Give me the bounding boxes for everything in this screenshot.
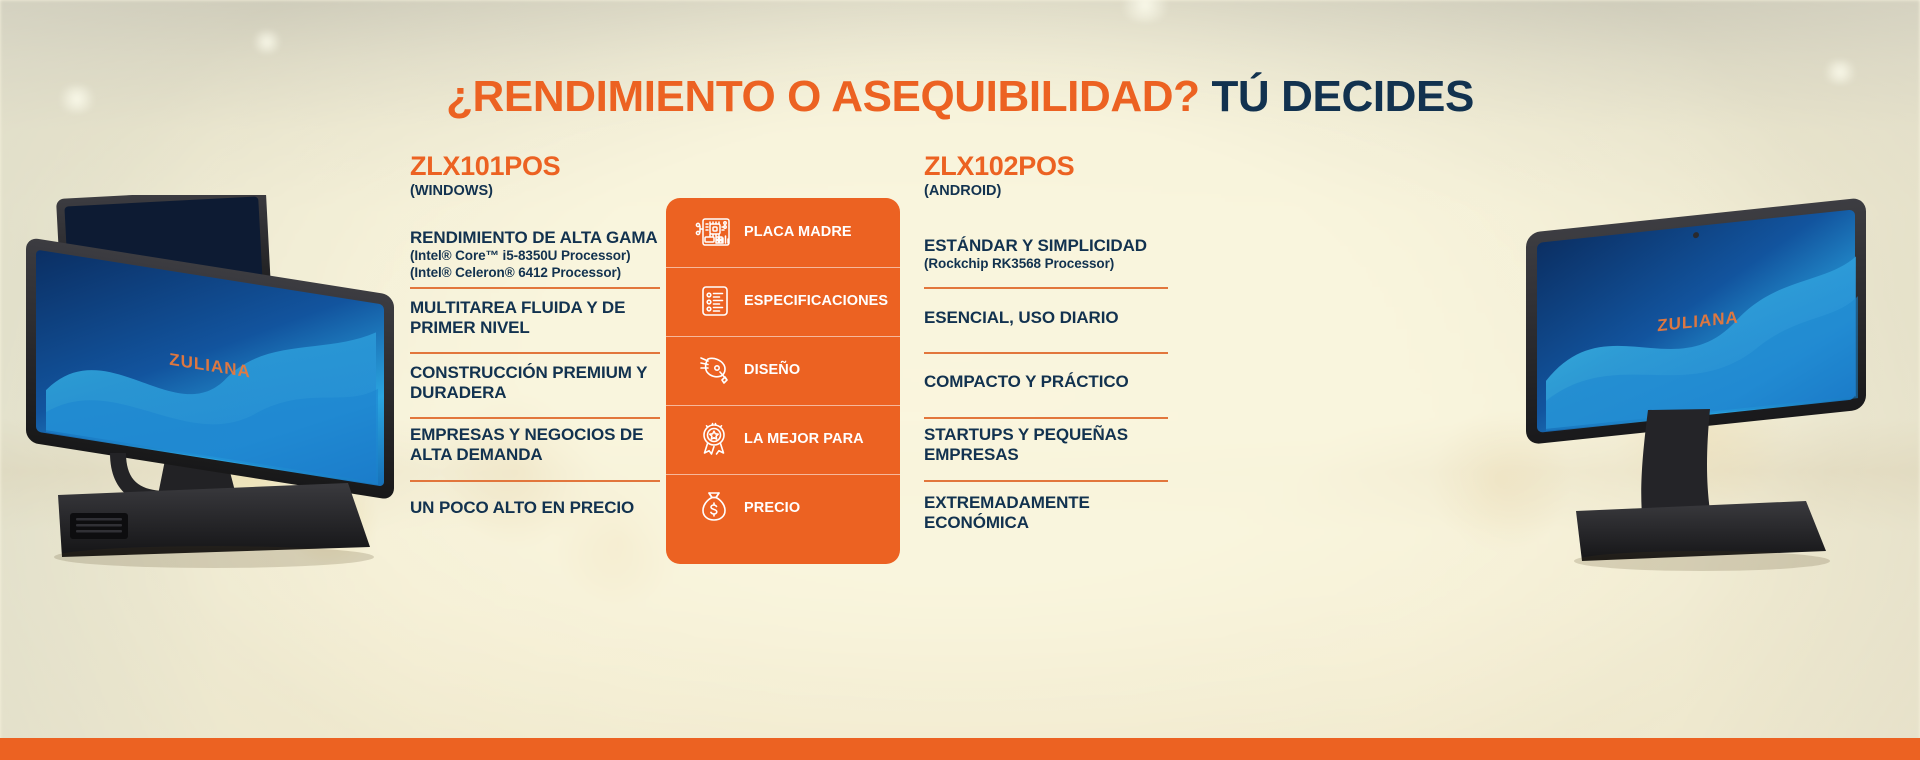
product-name-right: ZLX102POS bbox=[924, 152, 1182, 180]
feature-left-4: UN POCO ALTO EN PRECIO bbox=[410, 498, 660, 518]
product-header-right: ZLX102POS (ANDROID) bbox=[924, 152, 1182, 199]
feature-left-0: RENDIMIENTO DE ALTA GAMA (Intel® Core™ i… bbox=[410, 228, 668, 281]
row-divider bbox=[410, 352, 660, 354]
feature-right-main: STARTUPS Y PEQUEÑAS EMPRESAS bbox=[924, 425, 1176, 465]
award-ribbon-icon bbox=[694, 419, 734, 459]
row-divider bbox=[924, 417, 1168, 419]
page-title: ¿RENDIMIENTO O ASEQUIBILIDAD? TÚ DECIDES bbox=[0, 72, 1920, 122]
feature-right-0: ESTÁNDAR Y SIMPLICIDAD (Rockchip RK3568 … bbox=[924, 236, 1184, 273]
product-header-left: ZLX101POS (WINDOWS) bbox=[410, 152, 660, 199]
category-row-diseno: DISEÑO bbox=[666, 336, 900, 405]
motherboard-icon bbox=[694, 212, 734, 252]
row-divider bbox=[410, 417, 660, 419]
feature-right-1: ESENCIAL, USO DIARIO bbox=[924, 308, 1182, 328]
title-question: ¿RENDIMIENTO O ASEQUIBILIDAD? bbox=[446, 72, 1200, 121]
category-label: LA MEJOR PARA bbox=[744, 431, 864, 447]
specs-list-icon bbox=[694, 281, 734, 321]
feature-right-main: ESENCIAL, USO DIARIO bbox=[924, 308, 1182, 328]
feature-left-sub: (Intel® Core™ i5-8350U Processor) (Intel… bbox=[410, 248, 668, 281]
feature-right-4: EXTREMADAMENTE ECONÓMICA bbox=[924, 493, 1176, 533]
row-divider bbox=[410, 480, 660, 482]
money-bag-icon bbox=[694, 488, 734, 528]
category-row-especificaciones: ESPECIFICACIONES bbox=[666, 267, 900, 336]
feature-right-sub: (Rockchip RK3568 Processor) bbox=[924, 256, 1184, 272]
product-os-left: (WINDOWS) bbox=[410, 183, 660, 199]
feature-left-1: MULTITAREA FLUIDA Y DE PRIMER NIVEL bbox=[410, 298, 660, 338]
feature-left-3: EMPRESAS Y NEGOCIOS DE ALTA DEMANDA bbox=[410, 425, 660, 465]
design-pen-icon bbox=[694, 350, 734, 390]
title-answer: TÚ DECIDES bbox=[1211, 72, 1473, 121]
category-label: DISEÑO bbox=[744, 362, 800, 378]
feature-left-main: UN POCO ALTO EN PRECIO bbox=[410, 498, 660, 518]
product-os-right: (ANDROID) bbox=[924, 183, 1182, 199]
row-divider bbox=[410, 287, 660, 289]
row-divider bbox=[924, 287, 1168, 289]
feature-right-main: ESTÁNDAR Y SIMPLICIDAD bbox=[924, 236, 1184, 256]
feature-left-main: EMPRESAS Y NEGOCIOS DE ALTA DEMANDA bbox=[410, 425, 660, 465]
category-label: PLACA MADRE bbox=[744, 224, 852, 240]
feature-left-2: CONSTRUCCIÓN PREMIUM Y DURADERA bbox=[410, 363, 660, 403]
product-name-left: ZLX101POS bbox=[410, 152, 660, 180]
feature-right-3: STARTUPS Y PEQUEÑAS EMPRESAS bbox=[924, 425, 1176, 465]
feature-left-main: CONSTRUCCIÓN PREMIUM Y DURADERA bbox=[410, 363, 660, 403]
row-divider bbox=[924, 352, 1168, 354]
category-label: ESPECIFICACIONES bbox=[744, 293, 888, 309]
category-row-placa-madre: PLACA MADRE bbox=[666, 198, 900, 267]
feature-left-main: RENDIMIENTO DE ALTA GAMA bbox=[410, 228, 668, 248]
category-label: PRECIO bbox=[744, 500, 800, 516]
feature-right-main: EXTREMADAMENTE ECONÓMICA bbox=[924, 493, 1176, 533]
bottom-accent-bar bbox=[0, 738, 1920, 760]
feature-right-main: COMPACTO Y PRÁCTICO bbox=[924, 372, 1182, 392]
category-row-precio: PRECIO bbox=[666, 474, 900, 543]
feature-right-2: COMPACTO Y PRÁCTICO bbox=[924, 372, 1182, 392]
feature-left-main: MULTITAREA FLUIDA Y DE PRIMER NIVEL bbox=[410, 298, 660, 338]
category-row-la-mejor-para: LA MEJOR PARA bbox=[666, 405, 900, 474]
row-divider bbox=[924, 480, 1168, 482]
